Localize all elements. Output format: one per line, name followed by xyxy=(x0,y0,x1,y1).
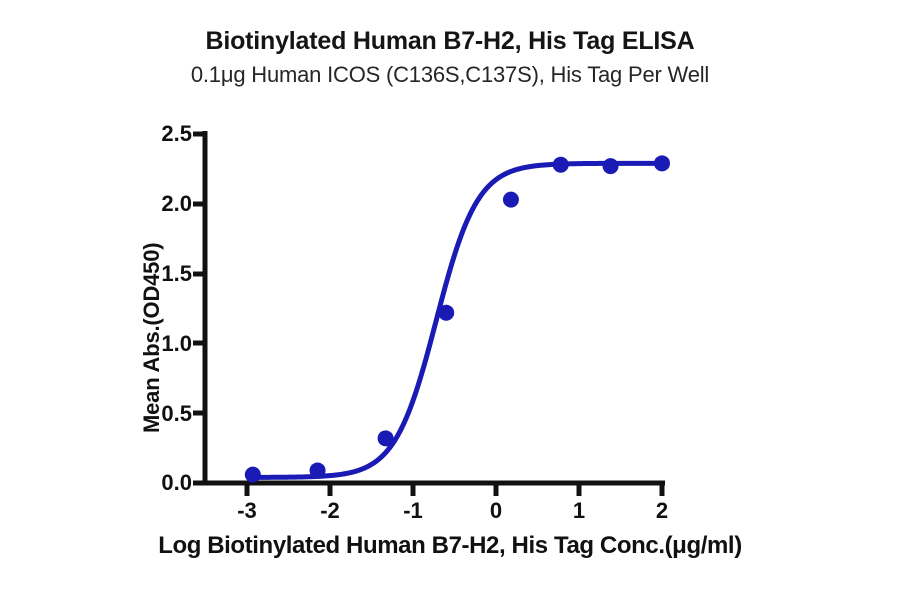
data-point xyxy=(438,305,454,321)
data-point xyxy=(654,155,670,171)
data-point xyxy=(378,430,394,446)
data-point xyxy=(553,157,569,173)
sigmoid-fit-curve xyxy=(253,163,662,477)
data-point xyxy=(310,462,326,478)
elisa-chart-figure: Biotinylated Human B7-H2, His Tag ELISA … xyxy=(0,0,900,594)
data-point-markers xyxy=(245,155,670,482)
plot-canvas xyxy=(0,0,900,594)
data-point xyxy=(603,158,619,174)
data-point xyxy=(245,467,261,483)
data-point xyxy=(503,192,519,208)
